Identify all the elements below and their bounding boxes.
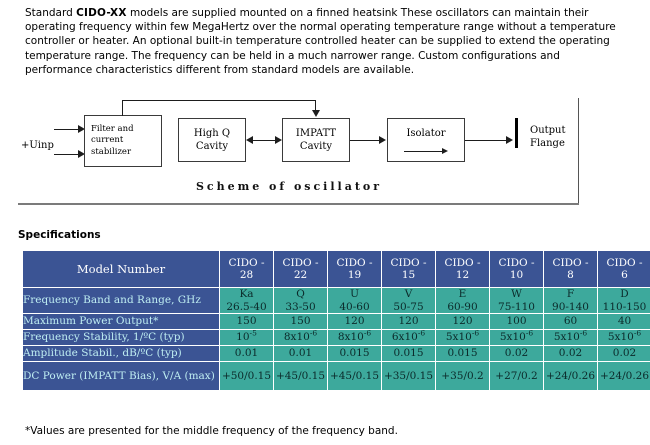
cell-freq-stability-4: 5x10-6 xyxy=(436,330,489,345)
header-number-7: 6 xyxy=(621,269,628,281)
header-number-3: 15 xyxy=(402,269,415,281)
mantissa-1: 8x10 xyxy=(284,331,310,343)
specifications-table: Model Number CIDO -28 CIDO -22 CIDO -19 … xyxy=(22,250,650,391)
band-2: U xyxy=(350,288,359,300)
header-number-6: 8 xyxy=(567,269,574,281)
cell-frequency-band-2: U40-60 xyxy=(328,288,381,313)
cell-dc-power-2: +45/0.15 xyxy=(328,362,381,390)
range-1: 33-50 xyxy=(285,301,315,313)
cell-max-power-7: 40 xyxy=(598,314,650,329)
header-name-1: CIDO - xyxy=(282,257,318,269)
isolator-output-line xyxy=(465,140,510,141)
header-column-cido-10[interactable]: CIDO -10 xyxy=(490,251,543,287)
header-name-3: CIDO - xyxy=(390,257,426,269)
band-3: V xyxy=(405,288,413,300)
band-7: D xyxy=(620,288,628,300)
cell-frequency-band-4: E60-90 xyxy=(436,288,489,313)
exponent-5: -6 xyxy=(526,329,533,338)
cell-amp-stability-0: 0.01 xyxy=(220,346,273,361)
range-3: 50-75 xyxy=(393,301,423,313)
range-6: 90-140 xyxy=(552,301,589,313)
header-column-cido-19[interactable]: CIDO -19 xyxy=(328,251,381,287)
range-5: 75-110 xyxy=(498,301,535,313)
cell-freq-stability-6: 5x10-6 xyxy=(544,330,597,345)
block-isolator[interactable]: Isolator xyxy=(387,118,465,162)
cell-dc-power-4: +35/0.2 xyxy=(436,362,489,390)
exponent-2: -6 xyxy=(364,329,371,338)
intro-text-pre: Standard xyxy=(25,7,76,19)
cell-frequency-band-7: D110-150 xyxy=(598,288,650,313)
mantissa-7: 5x10 xyxy=(608,331,634,343)
header-name-2: CIDO - xyxy=(336,257,372,269)
highq-impatt-link-line xyxy=(251,140,277,141)
table-row-frequency-stability: Frequency Stability, 1/ºC (typ) 10-5 8x1… xyxy=(23,330,650,345)
cell-frequency-band-3: V50-75 xyxy=(382,288,435,313)
oscillator-scheme-diagram: +Uinp Filter and current stabilizer High… xyxy=(0,98,650,214)
band-6: F xyxy=(567,288,574,300)
band-4: E xyxy=(459,288,467,300)
cell-dc-power-6: +24/0.26 xyxy=(544,362,597,390)
isolator-direction-line xyxy=(404,151,444,152)
mantissa-5: 5x10 xyxy=(500,331,526,343)
block-filter-current-stabilizer[interactable]: Filter and current stabilizer xyxy=(84,115,162,167)
header-model-number: Model Number xyxy=(23,251,219,287)
mantissa-3: 6x10 xyxy=(392,331,418,343)
exponent-6: -6 xyxy=(580,329,587,338)
highq-impatt-arrowhead-left xyxy=(246,136,253,144)
cell-dc-power-0: +50/0.15 xyxy=(220,362,273,390)
cell-max-power-6: 60 xyxy=(544,314,597,329)
range-2: 40-60 xyxy=(339,301,369,313)
table-row-max-power-output: Maximum Power Output* 150 150 120 120 12… xyxy=(23,314,650,329)
band-5: W xyxy=(511,288,522,300)
header-number-5: 10 xyxy=(510,269,523,281)
feedback-arrowhead-down xyxy=(312,110,320,117)
row-label-amplitude-stability: Amplitude Stabil., dB/ºC (typ) xyxy=(23,346,219,361)
table-footnote: *Values are presented for the middle fre… xyxy=(25,425,398,437)
cell-freq-stability-7: 5x10-6 xyxy=(598,330,650,345)
cell-max-power-0: 150 xyxy=(220,314,273,329)
range-4: 60-90 xyxy=(447,301,477,313)
header-column-cido-12[interactable]: CIDO -12 xyxy=(436,251,489,287)
feedback-line-horizontal xyxy=(122,100,316,101)
isolator-direction-arrowhead xyxy=(442,148,448,154)
highq-impatt-arrowhead-right xyxy=(275,136,282,144)
output-flange-label: Output Flange xyxy=(530,124,576,150)
header-column-cido-28[interactable]: CIDO -28 xyxy=(220,251,273,287)
cell-max-power-4: 120 xyxy=(436,314,489,329)
diagram-caption: Scheme of oscillator xyxy=(0,180,578,193)
exponent-1: -6 xyxy=(310,329,317,338)
impatt-isolator-arrowhead xyxy=(379,136,386,144)
impatt-isolator-line xyxy=(350,140,381,141)
cell-frequency-band-1: Q33-50 xyxy=(274,288,327,313)
diagram-frame-bottom-border xyxy=(18,203,579,205)
cell-amp-stability-4: 0.015 xyxy=(436,346,489,361)
cell-max-power-1: 150 xyxy=(274,314,327,329)
cell-freq-stability-3: 6x10-6 xyxy=(382,330,435,345)
exponent-3: -6 xyxy=(418,329,425,338)
header-number-0: 28 xyxy=(240,269,253,281)
table-row-amplitude-stability: Amplitude Stabil., dB/ºC (typ) 0.01 0.01… xyxy=(23,346,650,361)
cell-amp-stability-2: 0.015 xyxy=(328,346,381,361)
isolator-output-arrowhead xyxy=(506,136,513,144)
header-name-7: CIDO - xyxy=(606,257,642,269)
mantissa-2: 8x10 xyxy=(338,331,364,343)
exponent-0: -5 xyxy=(250,329,257,338)
block-impatt-cavity[interactable]: IMPATT Cavity xyxy=(282,118,350,162)
output-flange-bar-icon xyxy=(515,118,518,148)
table-row-dc-power: DC Power (IMPATT Bias), V/A (max) +50/0.… xyxy=(23,362,650,390)
header-name-0: CIDO - xyxy=(228,257,264,269)
cell-max-power-2: 120 xyxy=(328,314,381,329)
range-0: 26.5-40 xyxy=(226,301,266,313)
input-voltage-label: +Uinp xyxy=(21,140,54,151)
header-column-cido-6[interactable]: CIDO -6 xyxy=(598,251,650,287)
feedback-line-vertical-left xyxy=(122,100,123,116)
block-high-q-label: High Q Cavity xyxy=(179,127,245,153)
block-filter-label: Filter and current stabilizer xyxy=(85,124,161,159)
header-name-5: CIDO - xyxy=(498,257,534,269)
cell-dc-power-3: +35/0.15 xyxy=(382,362,435,390)
model-name-bold: CIDO-XX xyxy=(76,7,127,19)
mantissa-6: 5x10 xyxy=(554,331,580,343)
cell-frequency-band-0: Ka26.5-40 xyxy=(220,288,273,313)
table-row-frequency-band: Frequency Band and Range, GHz Ka26.5-40 … xyxy=(23,288,650,313)
cell-dc-power-1: +45/0.15 xyxy=(274,362,327,390)
block-isolator-label: Isolator xyxy=(388,127,464,140)
cell-amp-stability-3: 0.015 xyxy=(382,346,435,361)
cell-amp-stability-5: 0.02 xyxy=(490,346,543,361)
header-column-cido-15[interactable]: CIDO -15 xyxy=(382,251,435,287)
band-0: Ka xyxy=(239,288,253,300)
cell-amp-stability-6: 0.02 xyxy=(544,346,597,361)
row-label-frequency-stability: Frequency Stability, 1/ºC (typ) xyxy=(23,330,219,345)
cell-frequency-band-5: W75-110 xyxy=(490,288,543,313)
header-column-cido-22[interactable]: CIDO -22 xyxy=(274,251,327,287)
table-header-row: Model Number CIDO -28 CIDO -22 CIDO -19 … xyxy=(23,251,650,287)
cell-frequency-band-6: F90-140 xyxy=(544,288,597,313)
cell-freq-stability-0: 10-5 xyxy=(220,330,273,345)
cell-freq-stability-1: 8x10-6 xyxy=(274,330,327,345)
exponent-7: -6 xyxy=(634,329,641,338)
exponent-4: -6 xyxy=(472,329,479,338)
cell-freq-stability-5: 5x10-6 xyxy=(490,330,543,345)
row-label-dc-power: DC Power (IMPATT Bias), V/A (max) xyxy=(23,362,219,390)
range-7: 110-150 xyxy=(603,301,647,313)
specifications-heading: Specifications xyxy=(18,229,101,241)
header-name-4: CIDO - xyxy=(444,257,480,269)
mantissa-4: 5x10 xyxy=(446,331,472,343)
header-column-cido-8[interactable]: CIDO -8 xyxy=(544,251,597,287)
cell-amp-stability-7: 0.02 xyxy=(598,346,650,361)
header-number-4: 12 xyxy=(456,269,469,281)
cell-freq-stability-2: 8x10-6 xyxy=(328,330,381,345)
mantissa-0: 10 xyxy=(236,331,249,343)
intro-paragraph: Standard CIDO-XX models are supplied mou… xyxy=(25,6,625,77)
cell-dc-power-5: +27/0.2 xyxy=(490,362,543,390)
cell-dc-power-7: +24/0.26 xyxy=(598,362,650,390)
diagram-frame-right-border xyxy=(578,98,579,204)
row-label-max-power-output: Maximum Power Output* xyxy=(23,314,219,329)
header-number-1: 22 xyxy=(294,269,307,281)
header-number-2: 19 xyxy=(348,269,361,281)
band-1: Q xyxy=(296,288,305,300)
cell-max-power-3: 120 xyxy=(382,314,435,329)
cell-amp-stability-1: 0.01 xyxy=(274,346,327,361)
block-high-q-cavity[interactable]: High Q Cavity xyxy=(178,118,246,162)
row-label-frequency-band: Frequency Band and Range, GHz xyxy=(23,288,219,313)
cell-max-power-5: 100 xyxy=(490,314,543,329)
header-name-6: CIDO - xyxy=(552,257,588,269)
block-impatt-label: IMPATT Cavity xyxy=(283,127,349,153)
